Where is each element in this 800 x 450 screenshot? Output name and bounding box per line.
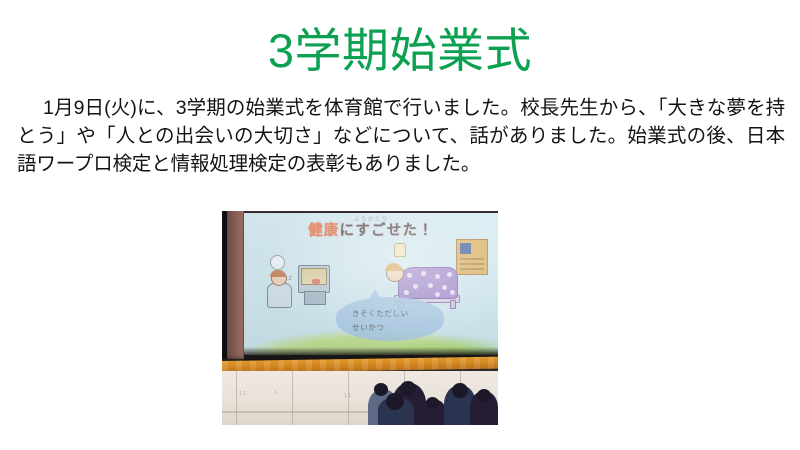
projection-screen: ふりかえり 健康にすごせた！ zz (244, 213, 498, 355)
window-frame-lines (460, 258, 484, 260)
bed-blanket (398, 267, 458, 299)
speech-bubble-line-1: きそくただしい (352, 308, 409, 319)
illustration-child-watching-tv (266, 271, 292, 307)
projected-title-kanji: 健康 (308, 223, 339, 239)
television-picture (312, 279, 320, 284)
projected-slide-title: 健康にすごせた！ (244, 219, 498, 240)
student-head (400, 381, 416, 396)
window-pane (460, 243, 471, 254)
student-head (477, 389, 491, 402)
projected-title-kana: にすごせた！ (340, 223, 434, 239)
speech-bubble-line-2: せいかつ (352, 322, 384, 333)
student-head (374, 383, 388, 396)
television-icon (298, 265, 330, 293)
bed-leg-right (450, 300, 456, 309)
sleeping-child-hair (385, 263, 402, 271)
body-paragraph-text: 1月9日(火)に、3学期の始業式を体育館で行いました。校長先生から、「大きな夢を… (17, 97, 785, 175)
child-hair (270, 270, 286, 277)
window-panel (456, 239, 488, 275)
presentation-slide: 3学期始業式 1月9日(火)に、3学期の始業式を体育館で行いました。校長先生から… (0, 0, 800, 450)
television-stand (304, 291, 326, 305)
television-screen (301, 268, 327, 285)
speech-bubble (336, 297, 444, 341)
photo-gymnasium-ceremony: ふりかえり 健康にすごせた！ zz (222, 211, 498, 425)
student-head (426, 397, 439, 409)
child-body (267, 283, 292, 308)
stage-curtain-edge (222, 211, 227, 359)
student-head (386, 393, 404, 410)
clock-icon (270, 255, 285, 270)
student-head (452, 383, 468, 398)
illustration-child-sleeping (384, 255, 456, 303)
body-paragraph: 1月9日(火)に、3学期の始業式を体育館で行いました。校長先生から、「大きな夢を… (17, 94, 785, 178)
page-title: 3学期始業式 (0, 22, 800, 80)
